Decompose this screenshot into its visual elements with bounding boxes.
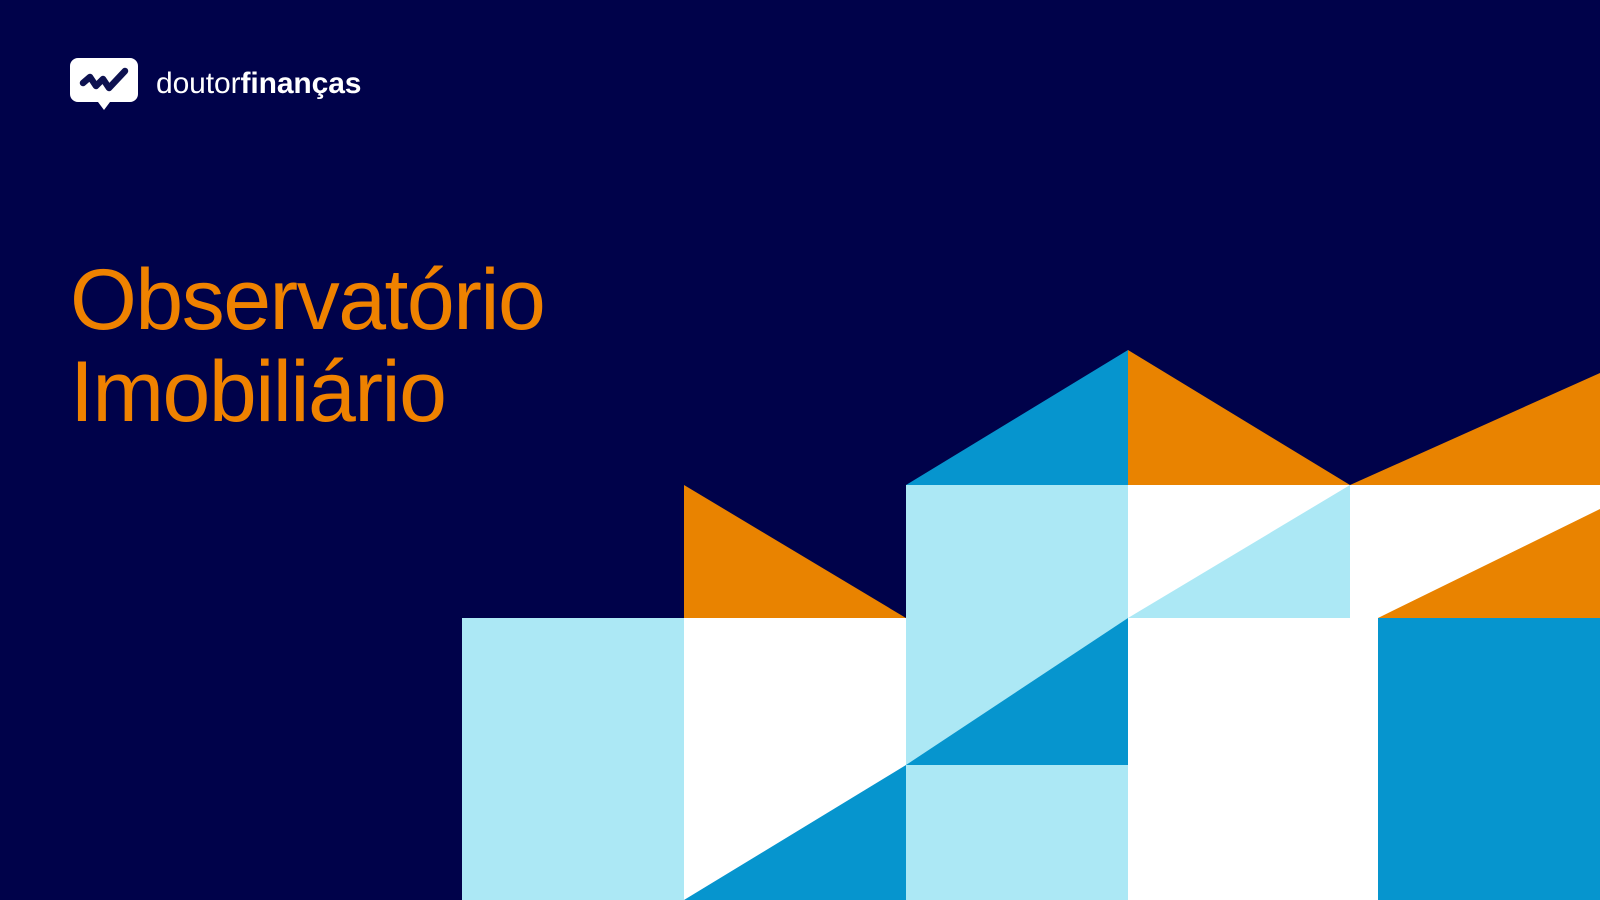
page-title: Observatório Imobiliário: [70, 254, 544, 440]
tile-col1-row3-light-blue: [462, 618, 684, 900]
page-title-line-1: Observatório: [70, 254, 544, 347]
tile-col5-row3-teal: [1378, 618, 1600, 900]
wordmark-doutor: doutor: [156, 69, 240, 99]
page-title-line-2: Imobiliário: [70, 346, 544, 439]
brand-wordmark: doutorfinanças: [156, 69, 361, 99]
slide-canvas: doutorfinanças Observatório Imobiliário: [0, 0, 1600, 900]
tile-col4-row3-white: [1128, 618, 1378, 900]
geometric-mosaic-artwork: [0, 0, 1600, 900]
brand-lockup[interactable]: doutorfinanças: [70, 58, 361, 110]
tile-col3-row4-light-blue: [906, 765, 1128, 900]
chart-bubble-icon: [70, 58, 138, 110]
wordmark-financas: finanças: [240, 69, 361, 99]
